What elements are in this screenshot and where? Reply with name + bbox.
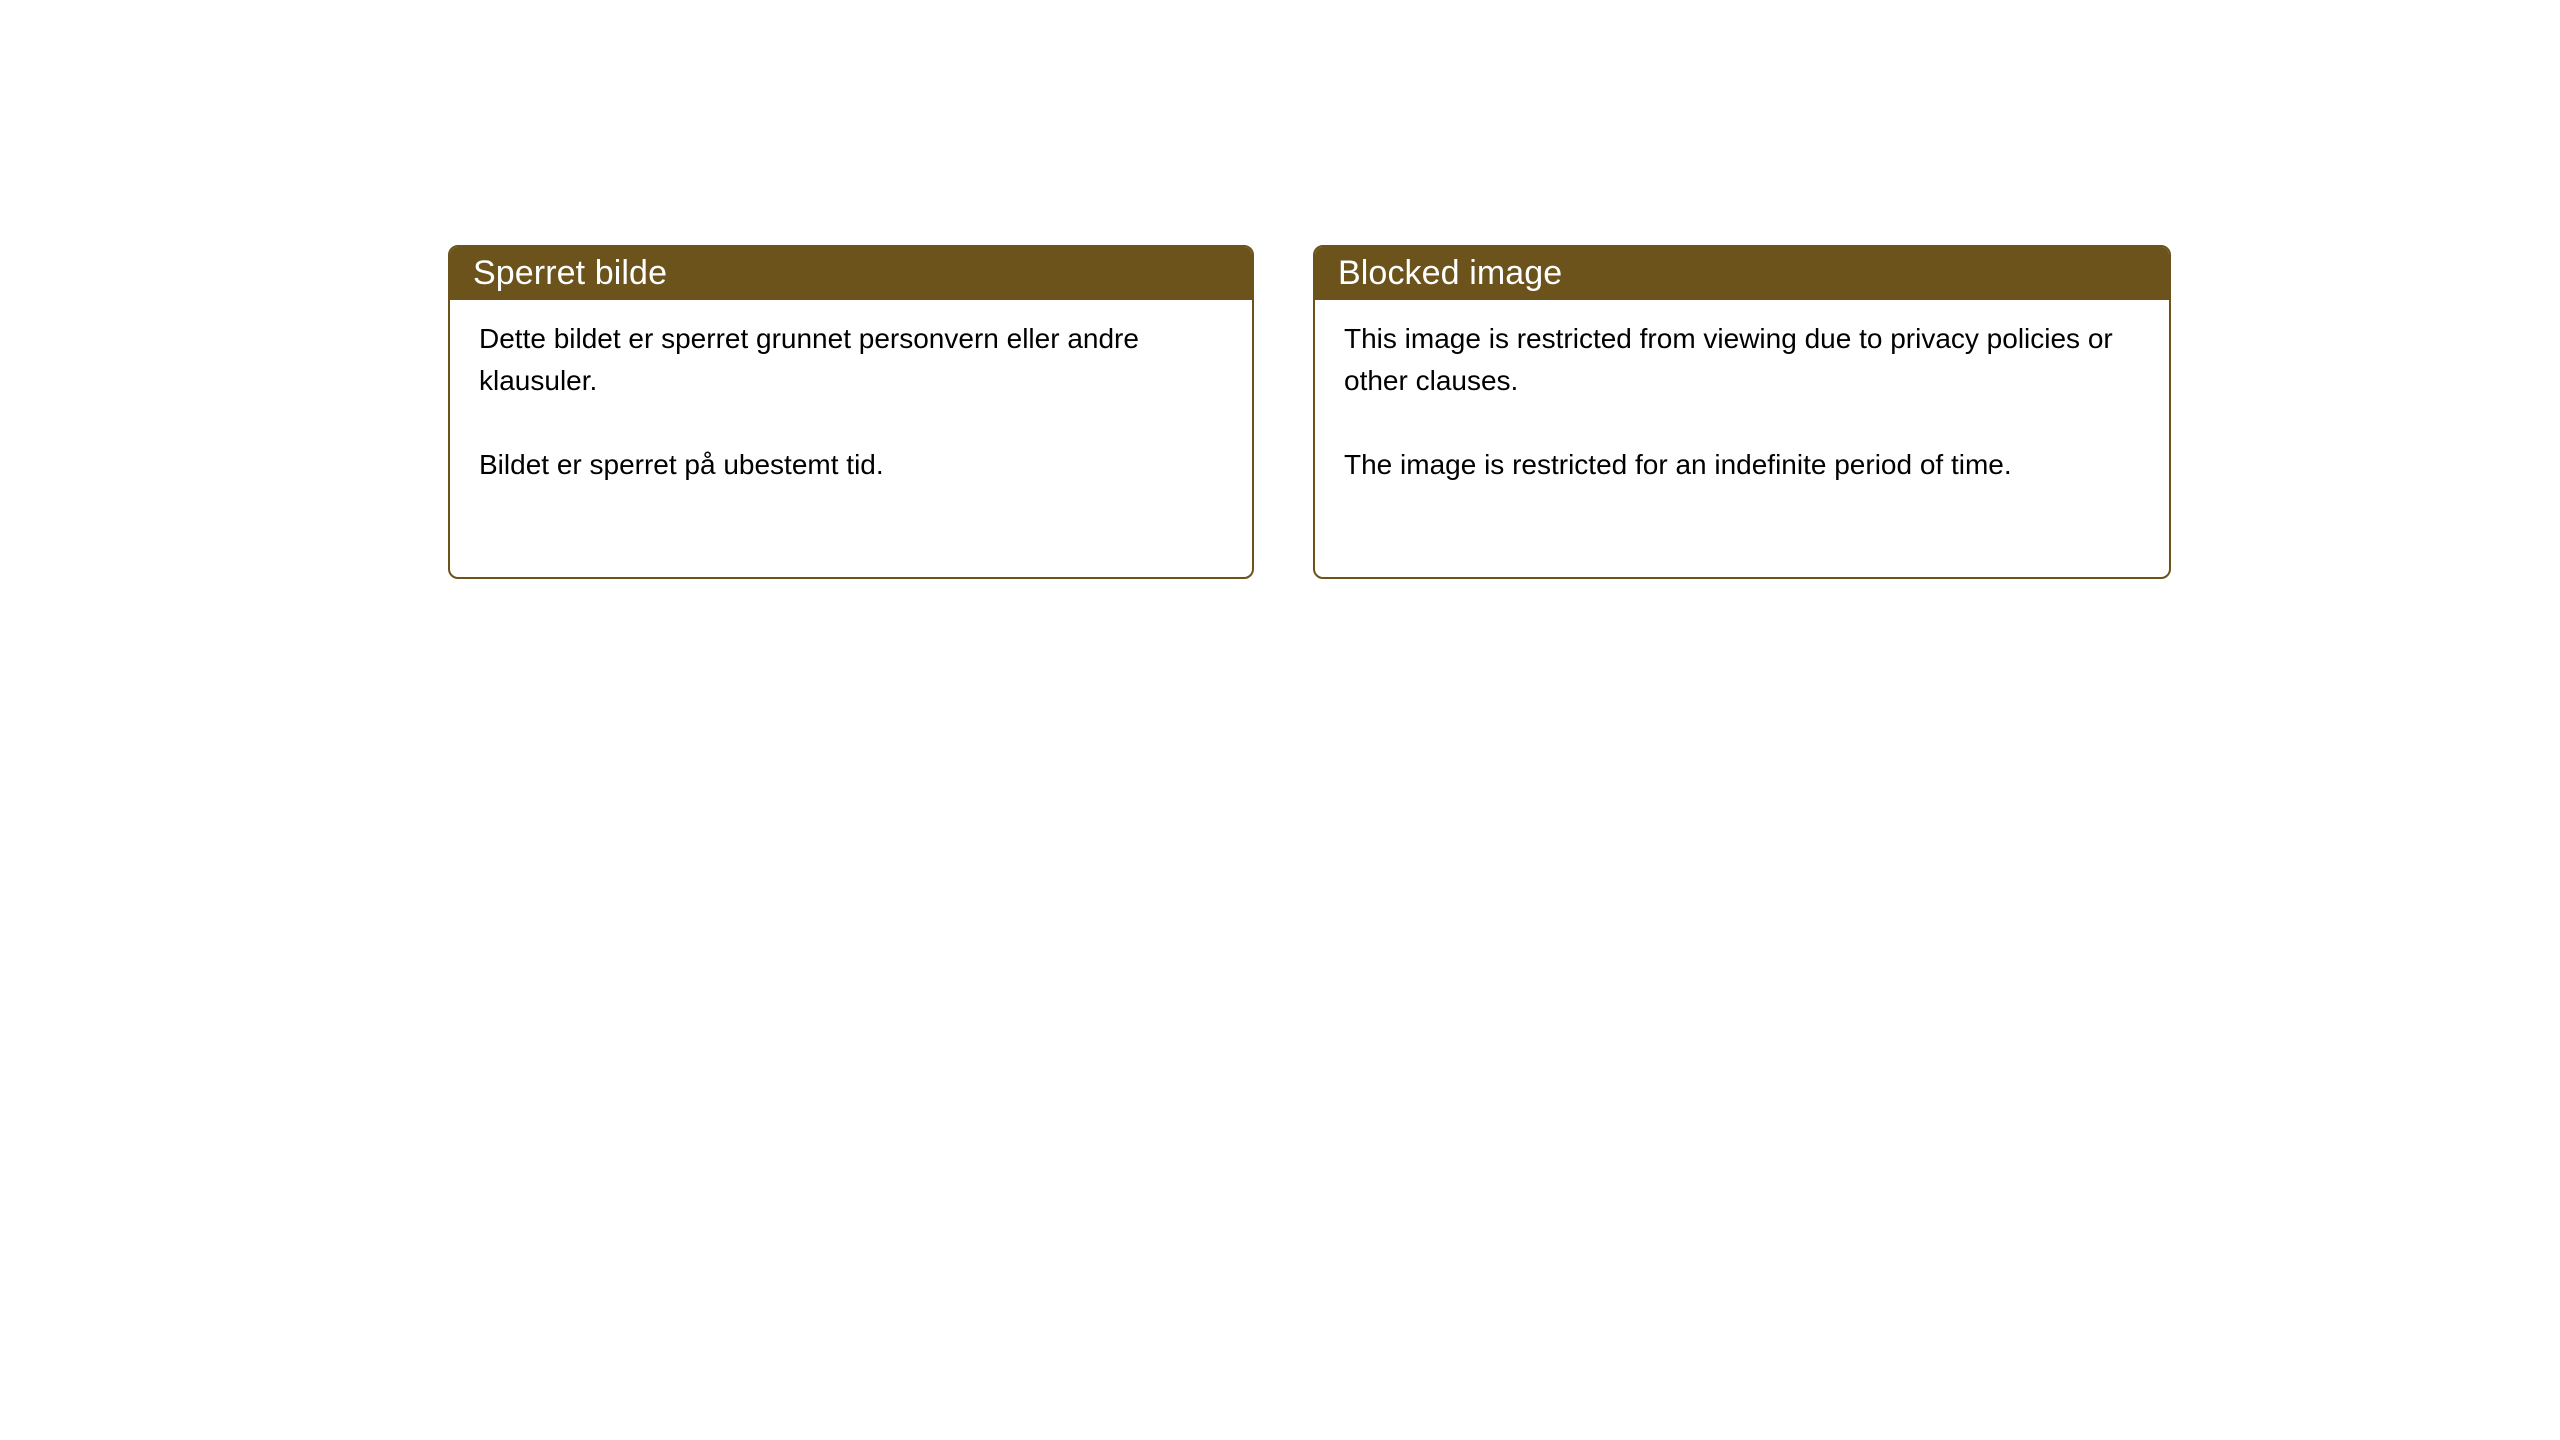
page-canvas: Sperret bilde Dette bildet er sperret gr… — [0, 0, 2560, 1440]
notice-paragraph-norwegian-2: Bildet er sperret på ubestemt tid. — [479, 444, 1228, 486]
blocked-image-notice-norwegian: Sperret bilde Dette bildet er sperret gr… — [448, 245, 1254, 579]
notice-body-english: This image is restricted from viewing du… — [1315, 300, 2169, 506]
notice-paragraph-english-2: The image is restricted for an indefinit… — [1344, 444, 2145, 486]
notice-paragraph-norwegian-1: Dette bildet er sperret grunnet personve… — [479, 318, 1228, 402]
notice-title-english: Blocked image — [1338, 254, 1562, 292]
blocked-image-notice-english: Blocked image This image is restricted f… — [1313, 245, 2171, 579]
notice-header-norwegian: Sperret bilde — [448, 245, 1254, 300]
notice-body-norwegian: Dette bildet er sperret grunnet personve… — [450, 300, 1252, 506]
notice-title-norwegian: Sperret bilde — [473, 254, 667, 292]
notice-paragraph-english-1: This image is restricted from viewing du… — [1344, 318, 2145, 402]
notice-header-english: Blocked image — [1313, 245, 2171, 300]
